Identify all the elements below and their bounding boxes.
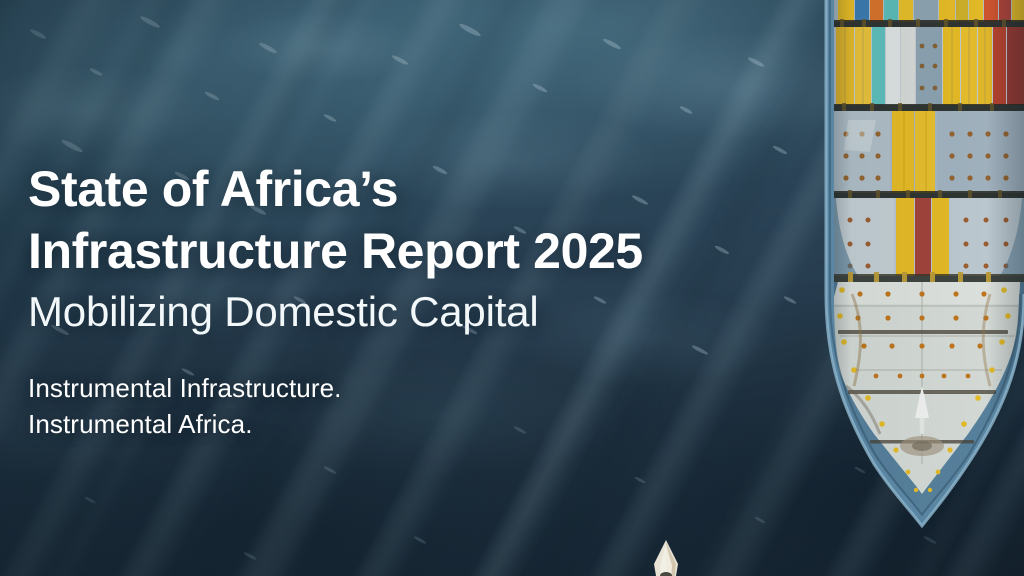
page-title: State of Africa’s Infrastructure Report … bbox=[28, 158, 788, 282]
page-subtitle: Mobilizing Domestic Capital bbox=[28, 284, 788, 340]
tagline-block: Instrumental Infrastructure. Instrumenta… bbox=[28, 370, 341, 442]
container-ship-image bbox=[818, 0, 1024, 534]
small-boat-image bbox=[645, 538, 687, 576]
title-block: State of Africa’s Infrastructure Report … bbox=[28, 158, 788, 340]
report-cover-slide: State of Africa’s Infrastructure Report … bbox=[0, 0, 1024, 576]
tagline-line-1: Instrumental Infrastructure. bbox=[28, 370, 341, 406]
headline-line-2: Infrastructure Report 2025 bbox=[28, 220, 788, 282]
tagline-line-2: Instrumental Africa. bbox=[28, 406, 341, 442]
headline-line-1: State of Africa’s bbox=[28, 161, 398, 217]
